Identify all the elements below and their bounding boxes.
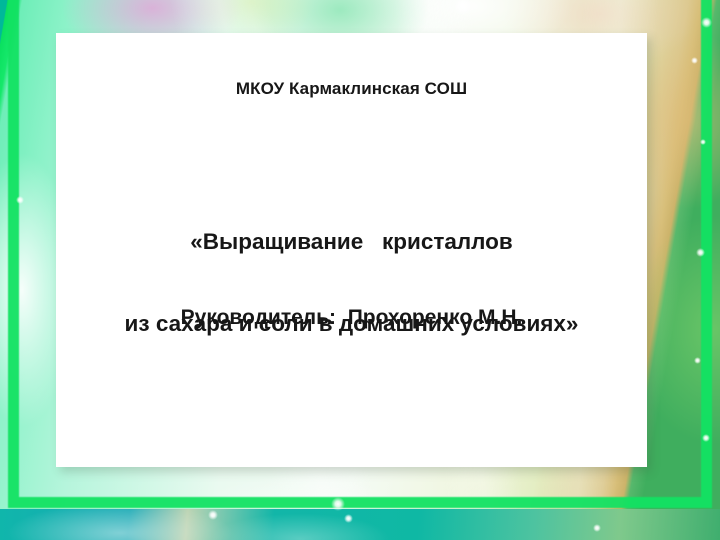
project-title-line-1: «Выращивание кристаллов (56, 228, 647, 255)
sparkle-icon (16, 196, 24, 204)
sparkle-icon (331, 497, 345, 511)
sparkle-icon (700, 139, 706, 145)
sparkle-icon (694, 357, 701, 364)
background-footer-band (0, 509, 720, 540)
school-name-text: МКОУ Кармаклинская СОШ (56, 79, 647, 100)
sparkle-icon (344, 514, 353, 523)
project-title: «Выращивание кристаллов из сахара и соли… (56, 173, 647, 393)
sparkle-icon (208, 510, 218, 520)
sparkle-icon (696, 248, 705, 257)
presentation-slide: МКОУ Кармаклинская СОШ «Выращивание крис… (0, 0, 720, 540)
supervisor-text: Руководитель: Прохоренко М.Н. (56, 305, 647, 331)
sparkle-icon (593, 524, 601, 532)
sparkle-icon (691, 57, 698, 64)
sparkle-icon (701, 17, 712, 28)
slide-content-card: МКОУ Кармаклинская СОШ «Выращивание крис… (56, 33, 647, 467)
sparkle-icon (702, 434, 710, 442)
